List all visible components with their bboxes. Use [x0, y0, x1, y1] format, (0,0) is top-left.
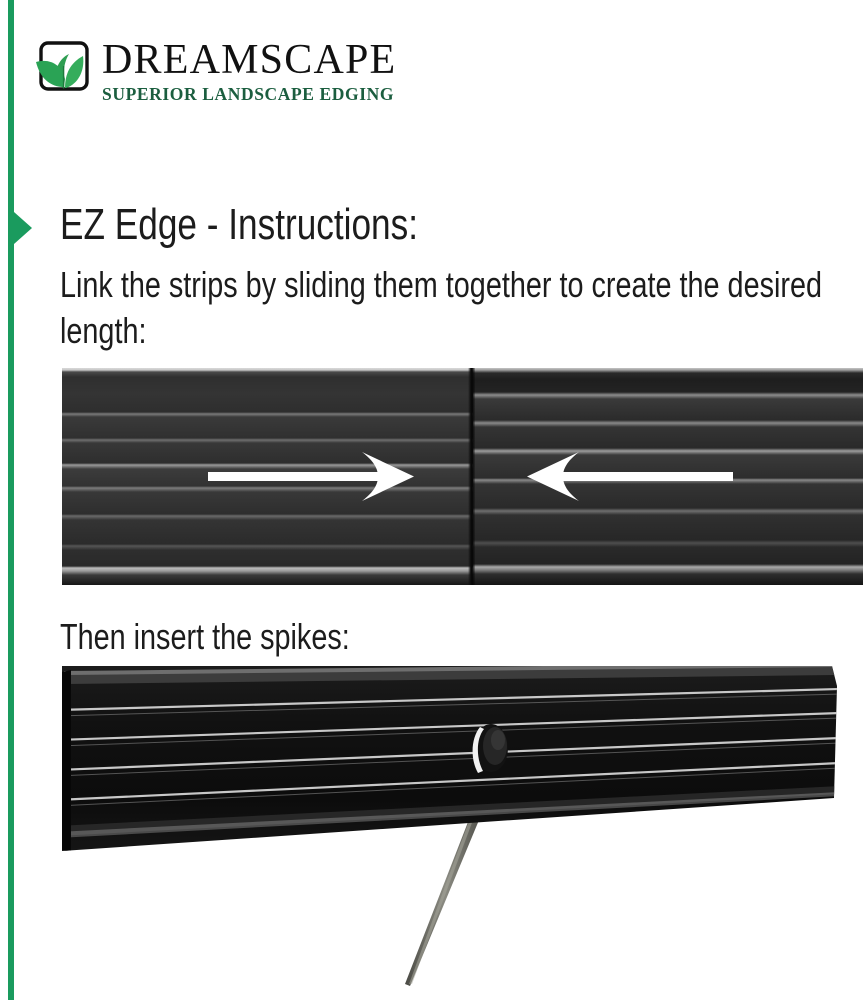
spike-photo	[62, 666, 863, 1000]
brand-wordmark: DREAMSCAPE SUPERIOR LANDSCAPE EDGING	[102, 38, 412, 104]
page-title: EZ Edge - Instructions:	[60, 198, 418, 252]
arrow-left-icon	[527, 452, 733, 501]
leaf-in-square-icon	[30, 38, 92, 100]
brand-name: DREAMSCAPE	[102, 38, 412, 82]
left-accent-rail	[8, 0, 14, 1000]
brand-tagline: SUPERIOR LANDSCAPE EDGING	[102, 84, 412, 104]
step-two-instruction: Then insert the spikes:	[60, 614, 540, 660]
edging-strip-angled	[62, 666, 840, 856]
section-marker-triangle-icon	[14, 212, 32, 244]
strips-photo	[62, 368, 863, 585]
brand-logo: DREAMSCAPE SUPERIOR LANDSCAPE EDGING	[30, 38, 410, 114]
arrow-right-icon	[208, 452, 414, 501]
step-one-instruction: Link the strips by sliding them together…	[60, 262, 865, 354]
